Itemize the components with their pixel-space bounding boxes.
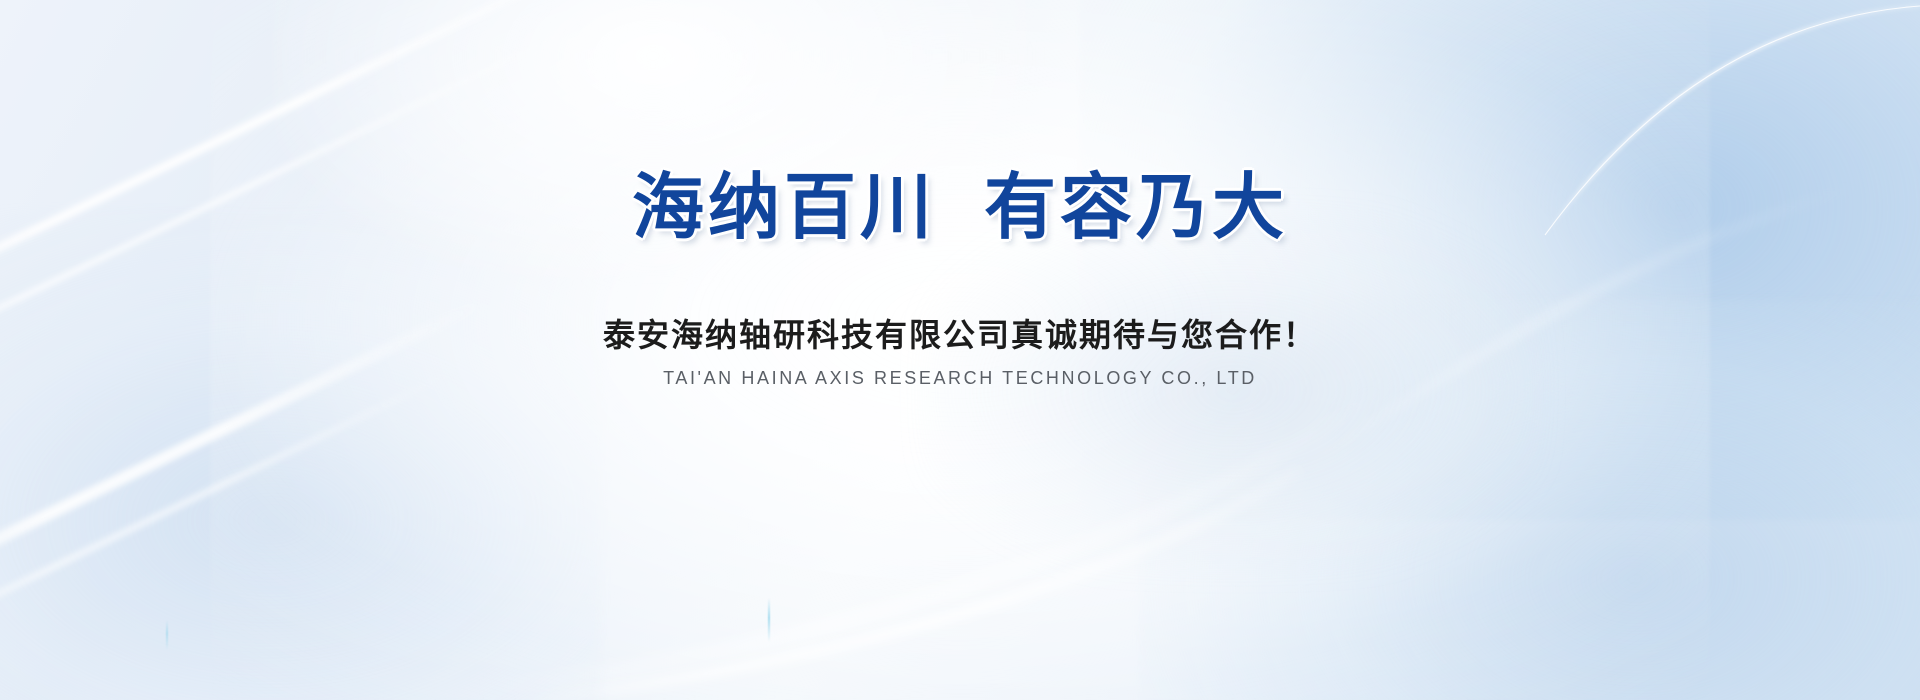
hero-banner: 海纳百川 有容乃大 泰安海纳轴研科技有限公司真诚期待与您合作！ TAI'AN H… — [0, 0, 1920, 700]
banner-content: 海纳百川 有容乃大 泰安海纳轴研科技有限公司真诚期待与您合作！ TAI'AN H… — [0, 0, 1920, 700]
banner-subtitle-chinese: 泰安海纳轴研科技有限公司真诚期待与您合作！ — [603, 316, 1317, 354]
banner-subtitle-english: TAI'AN HAINA AXIS RESEARCH TECHNOLOGY CO… — [663, 368, 1257, 390]
banner-headline: 海纳百川 有容乃大 — [632, 172, 1288, 244]
